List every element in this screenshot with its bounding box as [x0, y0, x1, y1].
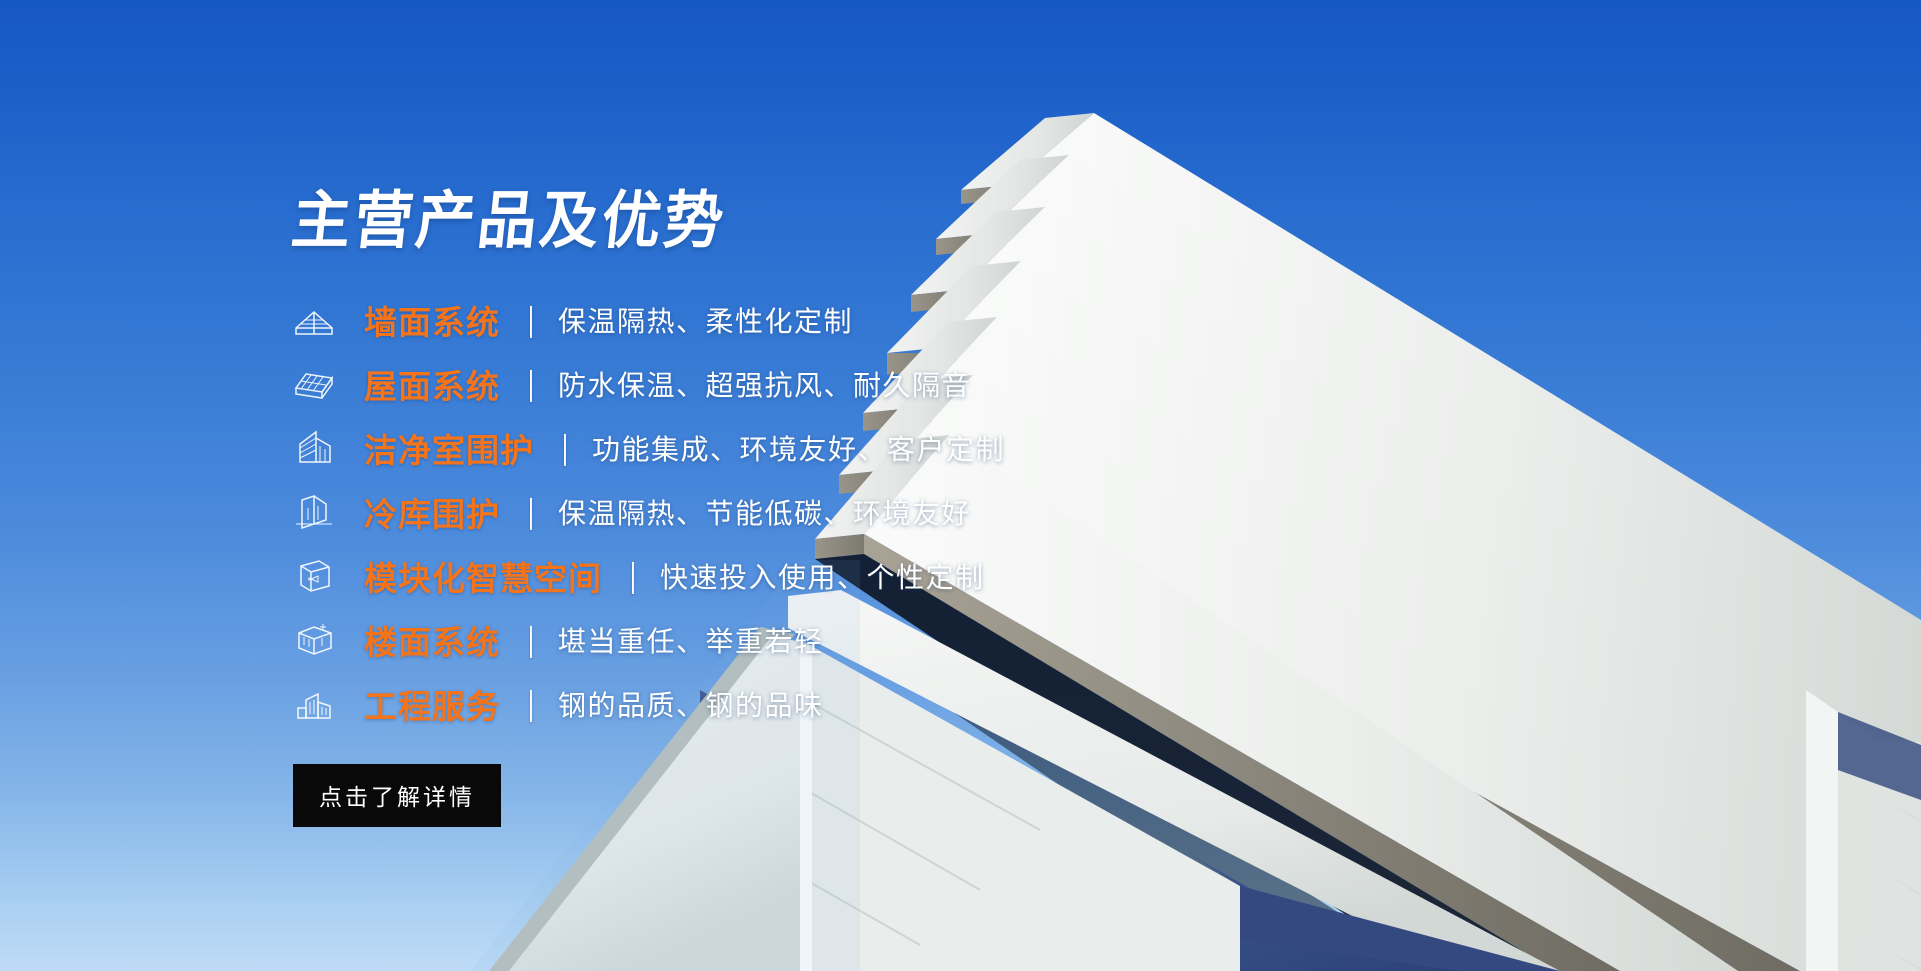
product-name: 模块化智慧空间 [364, 552, 602, 600]
modular-space-icon [292, 554, 336, 598]
hero-banner: 主营产品及优势 墙面系统 丨 保温隔热、柔性化定制 [0, 0, 1921, 971]
cleanroom-icon [292, 426, 336, 470]
product-desc: 堪当重任、举重若轻 [558, 620, 824, 660]
separator-icon: 丨 [523, 615, 540, 664]
separator-icon: 丨 [523, 487, 540, 536]
list-item[interactable]: 墙面系统 丨 保温隔热、柔性化定制 [292, 288, 1152, 352]
product-desc: 保温隔热、柔性化定制 [558, 300, 853, 340]
list-item[interactable]: 冷库围护 丨 保温隔热、节能低碳、环境友好 [292, 480, 1152, 544]
product-name: 墙面系统 [364, 296, 500, 344]
product-name: 洁净室围护 [364, 424, 534, 472]
separator-icon: 丨 [523, 295, 540, 344]
product-list: 墙面系统 丨 保温隔热、柔性化定制 屋面系统 [292, 288, 1152, 736]
floor-system-icon [292, 618, 336, 662]
product-desc: 钢的品质、钢的品味 [558, 684, 824, 724]
product-desc: 快速投入使用、个性定制 [660, 556, 985, 596]
product-desc: 防水保温、超强抗风、耐久隔音 [558, 364, 971, 404]
list-item[interactable]: 屋面系统 丨 防水保温、超强抗风、耐久隔音 [292, 352, 1152, 416]
engineering-icon [292, 682, 336, 726]
page-title: 主营产品及优势 [289, 188, 1156, 254]
list-item[interactable]: 楼面系统 丨 堪当重任、举重若轻 [292, 608, 1152, 672]
product-desc: 保温隔热、节能低碳、环境友好 [558, 492, 971, 532]
list-item[interactable]: 工程服务 丨 钢的品质、钢的品味 [292, 672, 1152, 736]
list-item[interactable]: 洁净室围护 丨 功能集成、环境友好、客户定制 [292, 416, 1152, 480]
product-name: 工程服务 [364, 680, 500, 728]
product-name: 楼面系统 [364, 616, 500, 664]
learn-more-button[interactable]: 点击了解详情 [293, 764, 501, 827]
separator-icon: 丨 [523, 359, 540, 408]
wall-system-icon [292, 298, 336, 342]
list-item[interactable]: 模块化智慧空间 丨 快速投入使用、个性定制 [292, 544, 1152, 608]
product-name: 屋面系统 [364, 360, 500, 408]
roof-system-icon [292, 362, 336, 406]
product-desc: 功能集成、环境友好、客户定制 [592, 428, 1005, 468]
separator-icon: 丨 [625, 551, 642, 600]
separator-icon: 丨 [523, 679, 540, 728]
hero-content: 主营产品及优势 墙面系统 丨 保温隔热、柔性化定制 [292, 190, 1152, 827]
coldstorage-icon [292, 490, 336, 534]
product-name: 冷库围护 [364, 488, 500, 536]
separator-icon: 丨 [557, 423, 574, 472]
